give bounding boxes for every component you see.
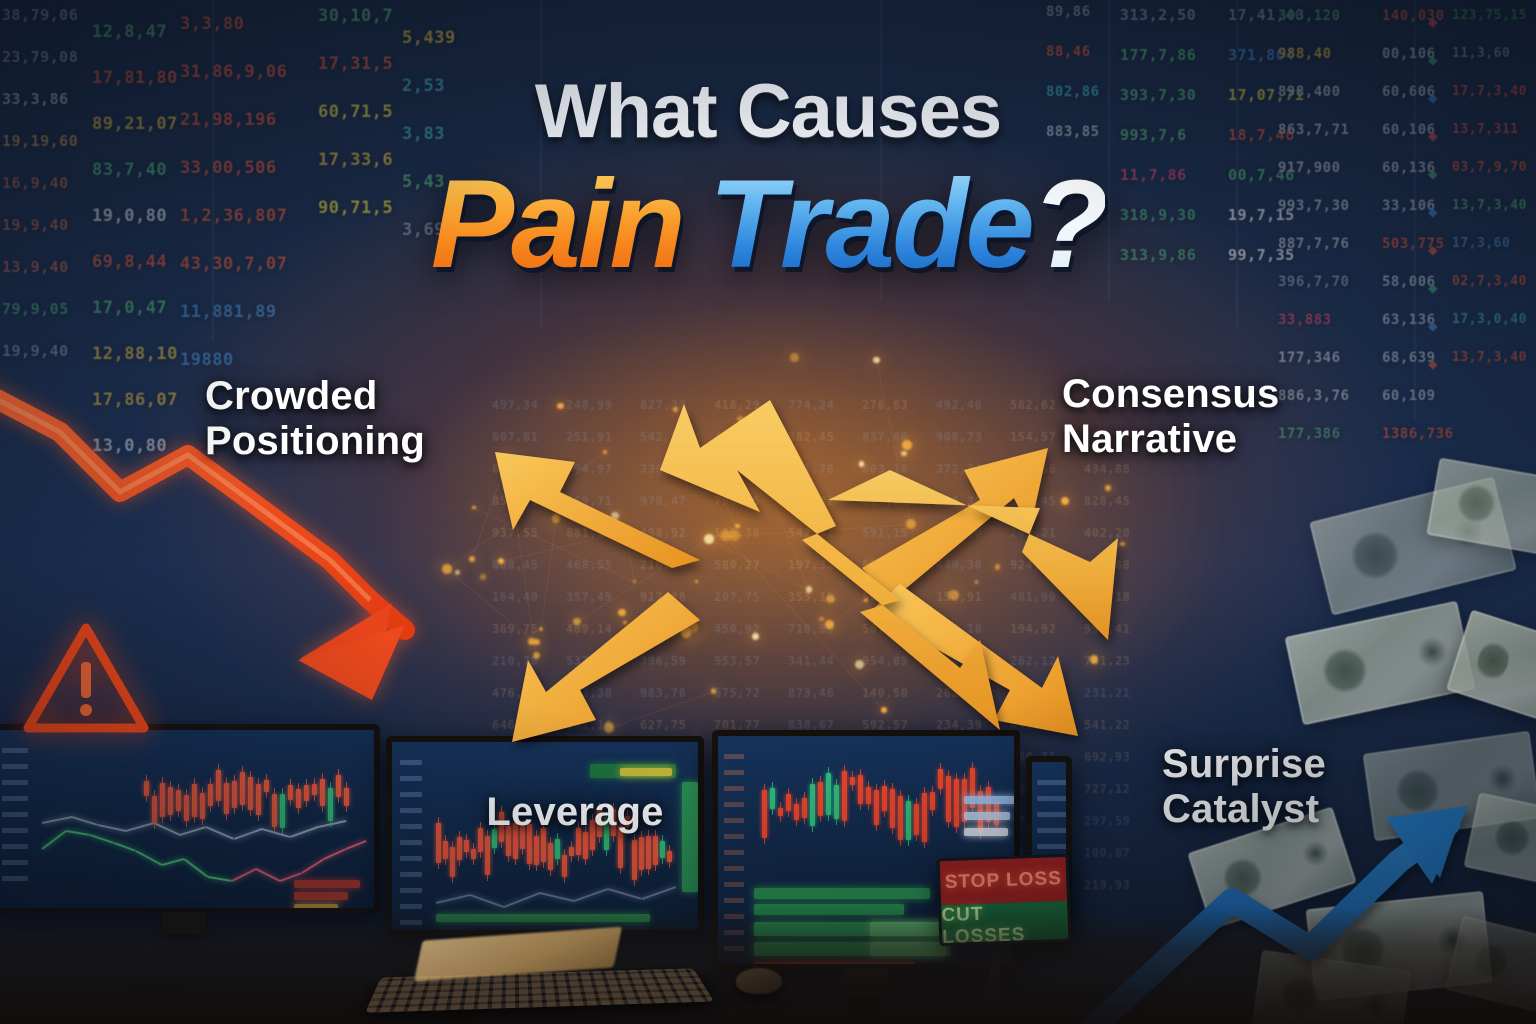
mouse-device[interactable] [736, 968, 782, 994]
poster-canvas: 38,79,0623,79,0833,3,8619,19,6016,9,4019… [0, 0, 1536, 1024]
desk-surface [0, 906, 1536, 1024]
vignette-overlay [0, 0, 1536, 1024]
